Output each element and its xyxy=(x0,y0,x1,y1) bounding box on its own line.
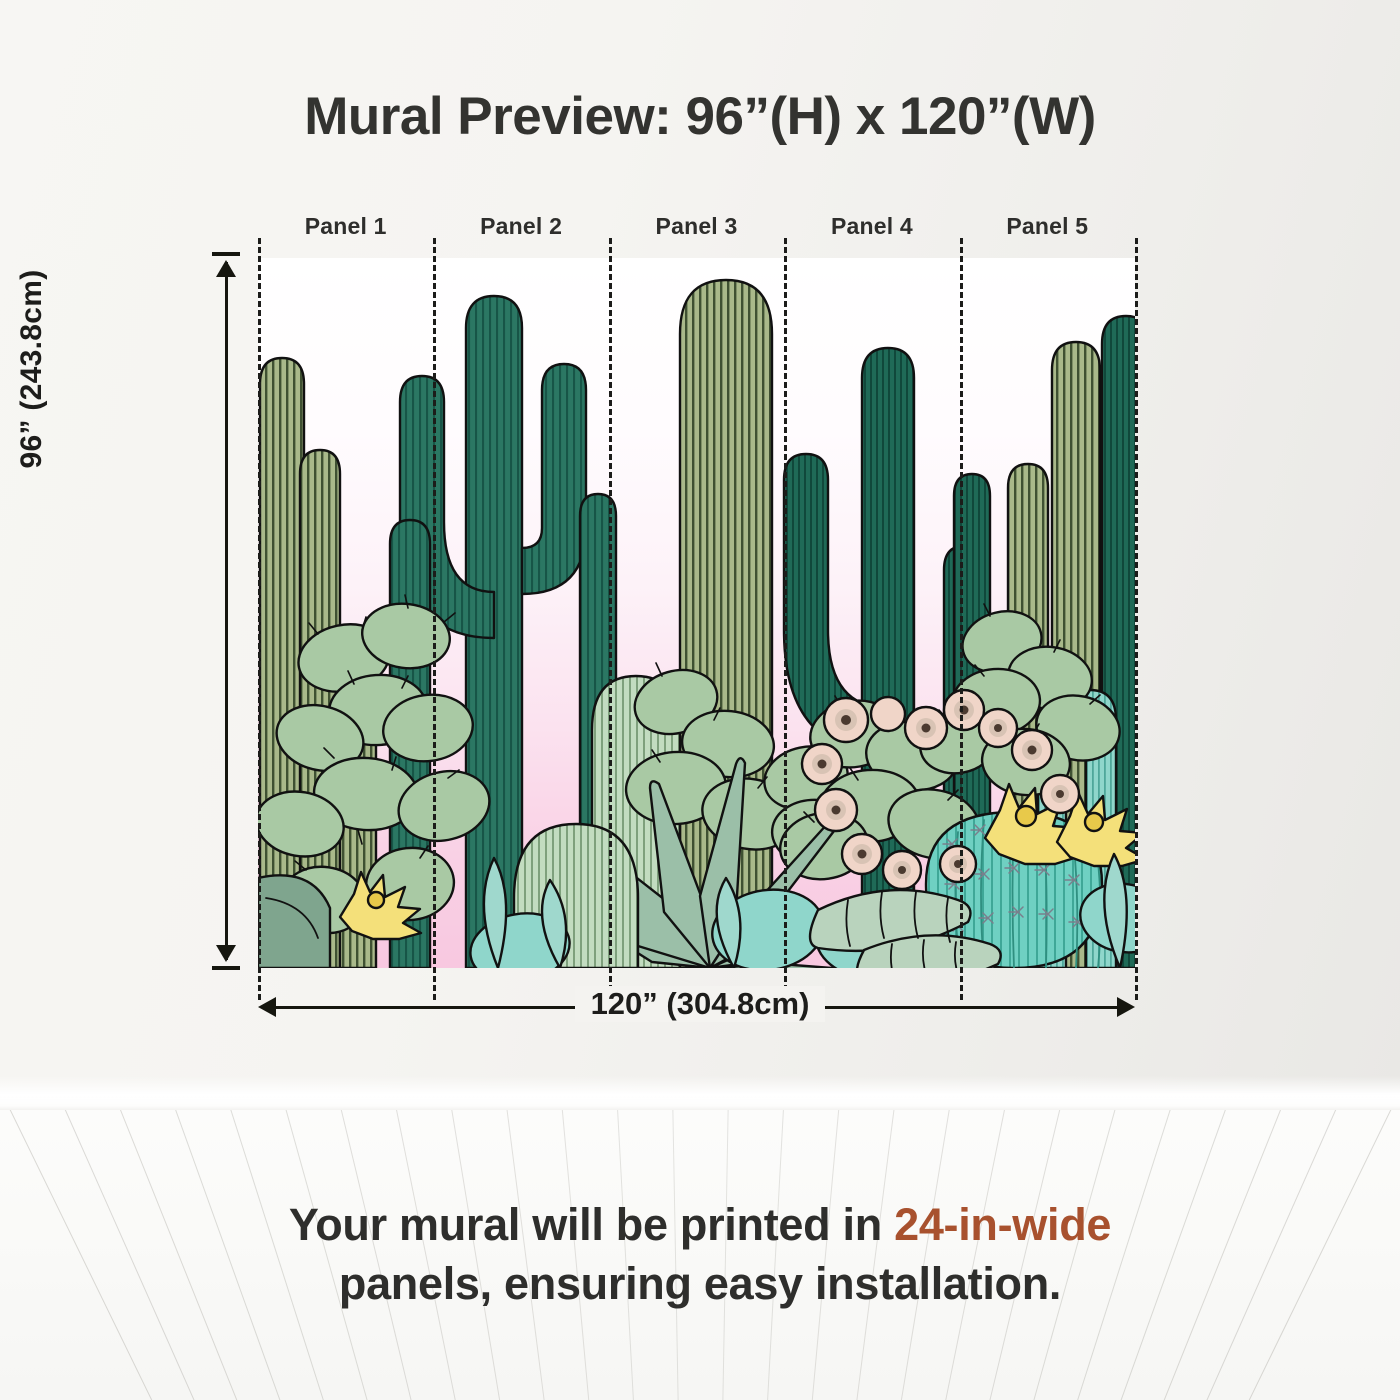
width-dimension-label: 120” (304.8cm) xyxy=(0,986,1400,1022)
height-tick-bottom xyxy=(212,966,240,970)
page-title: Mural Preview: 96”(H) x 120”(W) xyxy=(0,86,1400,147)
panel-label-1: Panel 1 xyxy=(258,213,433,247)
height-arrowhead-up xyxy=(216,260,236,277)
panel-label-row: Panel 1 Panel 2 Panel 3 Panel 4 Panel 5 xyxy=(258,213,1135,247)
panel-label-3: Panel 3 xyxy=(609,213,784,247)
caption-line-1: Your mural will be printed in 24-in-wide xyxy=(0,1196,1400,1255)
panel-label-5: Panel 5 xyxy=(960,213,1135,247)
height-tick-top xyxy=(212,252,240,256)
caption-line-1-text: Your mural will be printed in xyxy=(289,1199,894,1250)
height-dimension-label: 96” (243.8cm) xyxy=(15,19,49,719)
mural-preview xyxy=(258,258,1135,968)
footer-caption: Your mural will be printed in 24-in-wide… xyxy=(0,1196,1400,1313)
width-dimension-text: 120” (304.8cm) xyxy=(575,986,826,1022)
panel-divider-3 xyxy=(784,238,787,1000)
panel-label-4: Panel 4 xyxy=(784,213,959,247)
height-arrowhead-down xyxy=(216,945,236,962)
panel-divider-1 xyxy=(433,238,436,1000)
caption-line-2: panels, ensuring easy installation. xyxy=(0,1255,1400,1314)
mural-artwork xyxy=(258,258,1135,968)
panel-label-2: Panel 2 xyxy=(433,213,608,247)
panel-divider-0 xyxy=(258,238,261,1000)
height-arrow-shaft xyxy=(225,262,228,960)
caption-accent: 24-in-wide xyxy=(894,1199,1111,1250)
panel-divider-4 xyxy=(960,238,963,1000)
panel-divider-5 xyxy=(1135,238,1138,1000)
height-dimension-arrow xyxy=(196,252,256,970)
panel-divider-2 xyxy=(609,238,612,1000)
cactus-illustration-svg xyxy=(258,258,1135,968)
